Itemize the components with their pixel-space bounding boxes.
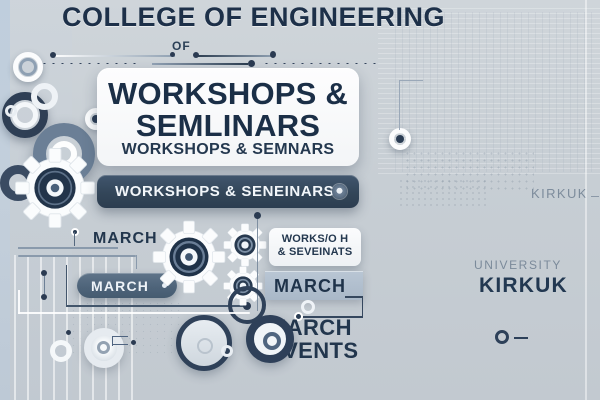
march-label: MARCH: [93, 230, 158, 248]
banner-canvas: COLLEGE OF ENGINEERING OF: [0, 0, 600, 400]
trace-line-left-b: [18, 255, 136, 257]
rail-dot-left: [50, 52, 56, 58]
rail-line-right: [196, 55, 274, 57]
ring-tiny-icon: [5, 105, 17, 117]
march-badge-label: MARCH: [274, 276, 346, 297]
march-bullet-stem: [74, 232, 75, 246]
university-label: UNIVERSITY: [474, 258, 562, 272]
dotted-rail-a: [40, 62, 140, 65]
kirkuk-main-label: KIRKUK: [479, 274, 568, 298]
workshops-seminars-button[interactable]: WORKSHOPS & SENEINARS: [97, 175, 359, 208]
march-pill-label: MARCH: [91, 278, 149, 294]
connector-vline-right: [399, 80, 400, 130]
main-title-card: WORKSHOPS & SEMLINARS WORKSHOPS & SEMNAR…: [97, 68, 359, 166]
ring-outline-icon: [228, 286, 266, 324]
circle-knob-icon[interactable]: [332, 184, 347, 199]
trace-dot-a: [41, 294, 47, 300]
knob-light-center-icon: [97, 341, 110, 354]
concentric-ring-inner-icon: [19, 58, 37, 76]
rail-dot-right-end: [270, 51, 276, 58]
trace-line-left-a: [18, 247, 118, 249]
gear-icon: [12, 145, 98, 231]
ring-dot-icon-2: [221, 345, 233, 357]
secondary-card-line1: WORKS/O H: [269, 233, 361, 246]
left-edge-strip: [0, 0, 10, 400]
trace-line-bottom-2: [345, 296, 363, 298]
trace-dot-d: [131, 340, 136, 345]
white-trace-line: [18, 312, 250, 314]
main-title: WORKSHOPS & SEMLINARS: [97, 78, 359, 142]
main-subtitle: WORKSHOPS & SEMNARS: [97, 141, 359, 159]
rail-node-b: [248, 60, 255, 67]
trace-vline-a: [44, 276, 45, 294]
knob-ring-center-icon: [263, 332, 281, 350]
trace-dot-c: [66, 330, 71, 335]
secondary-info-card: WORKS/O H & SEVEINATS: [269, 228, 361, 266]
march-bullet-dot: [71, 228, 79, 236]
connector-word: OF: [172, 39, 191, 53]
trace-vline-bottom: [362, 296, 363, 318]
dotted-rail-c: [262, 62, 382, 65]
solid-rail-b: [152, 63, 248, 65]
white-trace-vline: [18, 290, 20, 314]
badge-divider-top-dot: [254, 212, 261, 219]
gear-icon: [222, 222, 268, 268]
knob-center-icon: [197, 338, 213, 354]
rail-line-left: [53, 55, 175, 57]
rail-dot-left-end: [170, 52, 175, 57]
texture-grid-right: [395, 12, 595, 172]
right-edge-rule: [585, 0, 587, 400]
ring-small-icon: [31, 83, 58, 110]
ring-dot-icon: [301, 300, 315, 314]
primary-button-label: WORKSHOPS & SENEINARS: [115, 183, 334, 200]
kirkuk-dash-decoration: [591, 196, 599, 197]
rail-dot-right: [193, 52, 199, 58]
texture-dots-right-2: [398, 178, 488, 208]
ring-small-right-icon: [495, 330, 509, 344]
trace-line-f: [112, 344, 128, 345]
dash-right-decoration: [514, 337, 528, 339]
pill-bracket-vline: [66, 265, 67, 305]
node-dot-right: [396, 135, 404, 143]
ring-outline-right-icon: [545, 322, 575, 352]
kirkuk-top-label: KIRKUK: [531, 186, 588, 201]
trace-vline-g: [112, 336, 113, 346]
trace-vline-left: [136, 255, 137, 269]
pill-bracket-hline: [66, 305, 246, 307]
connector-hline-right: [399, 80, 423, 81]
ring-mini-center-icon: [56, 346, 67, 357]
gear-icon: [150, 218, 228, 296]
secondary-card-line2: & SEVEINATS: [269, 246, 361, 259]
trace-line-e: [112, 336, 128, 337]
page-title: COLLEGE OF ENGINEERING: [62, 2, 407, 33]
